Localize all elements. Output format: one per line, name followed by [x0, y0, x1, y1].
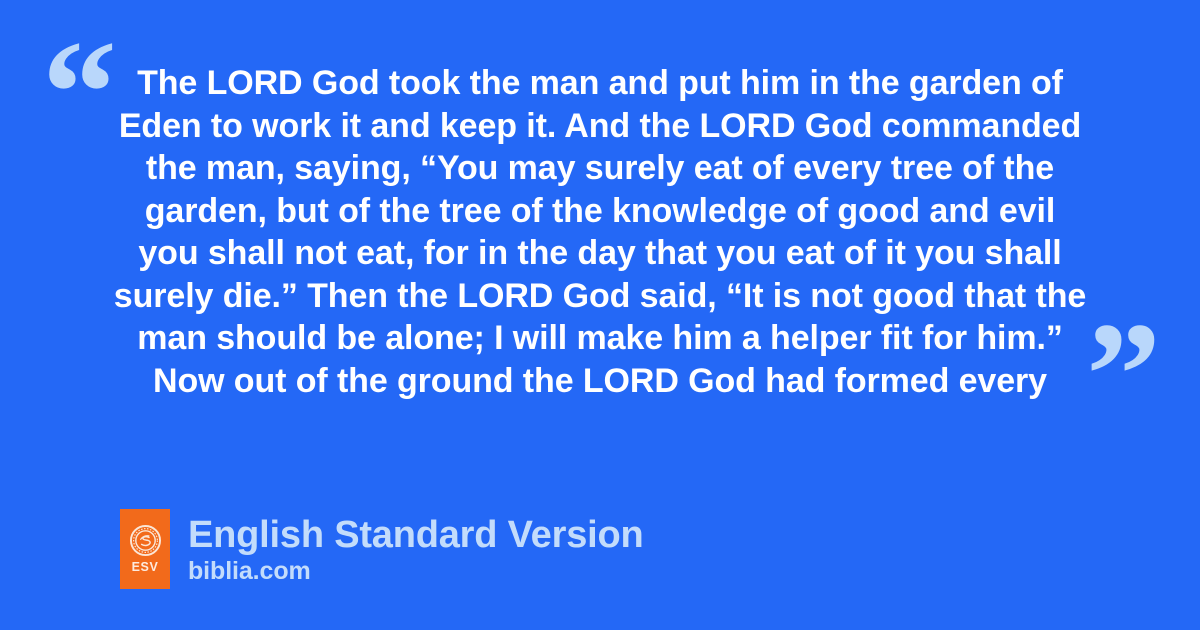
- brand-title: English Standard Version: [188, 514, 644, 556]
- verse-line: surely die.” Then the LORD God said, “It…: [60, 275, 1140, 318]
- verse-line: Eden to work it and keep it. And the LOR…: [60, 105, 1140, 148]
- esv-badge: ESV: [120, 509, 170, 589]
- esv-badge-label: ESV: [132, 561, 159, 574]
- verse-line: you shall not eat, for in the day that y…: [60, 232, 1140, 275]
- brand-text: English Standard Version biblia.com: [188, 514, 644, 585]
- brand-site-link[interactable]: biblia.com: [188, 558, 644, 585]
- closing-quote-icon: ”: [1086, 300, 1161, 450]
- verse-quote-card: “ The LORD God took the man and put him …: [0, 0, 1200, 630]
- verse-text-block: The LORD God took the man and put him in…: [60, 62, 1140, 402]
- brand-lockup[interactable]: ESV English Standard Version biblia.com: [120, 509, 644, 589]
- verse-line: The LORD God took the man and put him in…: [60, 62, 1140, 105]
- verse-line: the man, saying, “You may surely eat of …: [60, 147, 1140, 190]
- verse-line: garden, but of the tree of the knowledge…: [60, 190, 1140, 233]
- esv-seal-icon: [130, 525, 161, 556]
- verse-line: Now out of the ground the LORD God had f…: [60, 360, 1140, 403]
- verse-line: man should be alone; I will make him a h…: [60, 317, 1140, 360]
